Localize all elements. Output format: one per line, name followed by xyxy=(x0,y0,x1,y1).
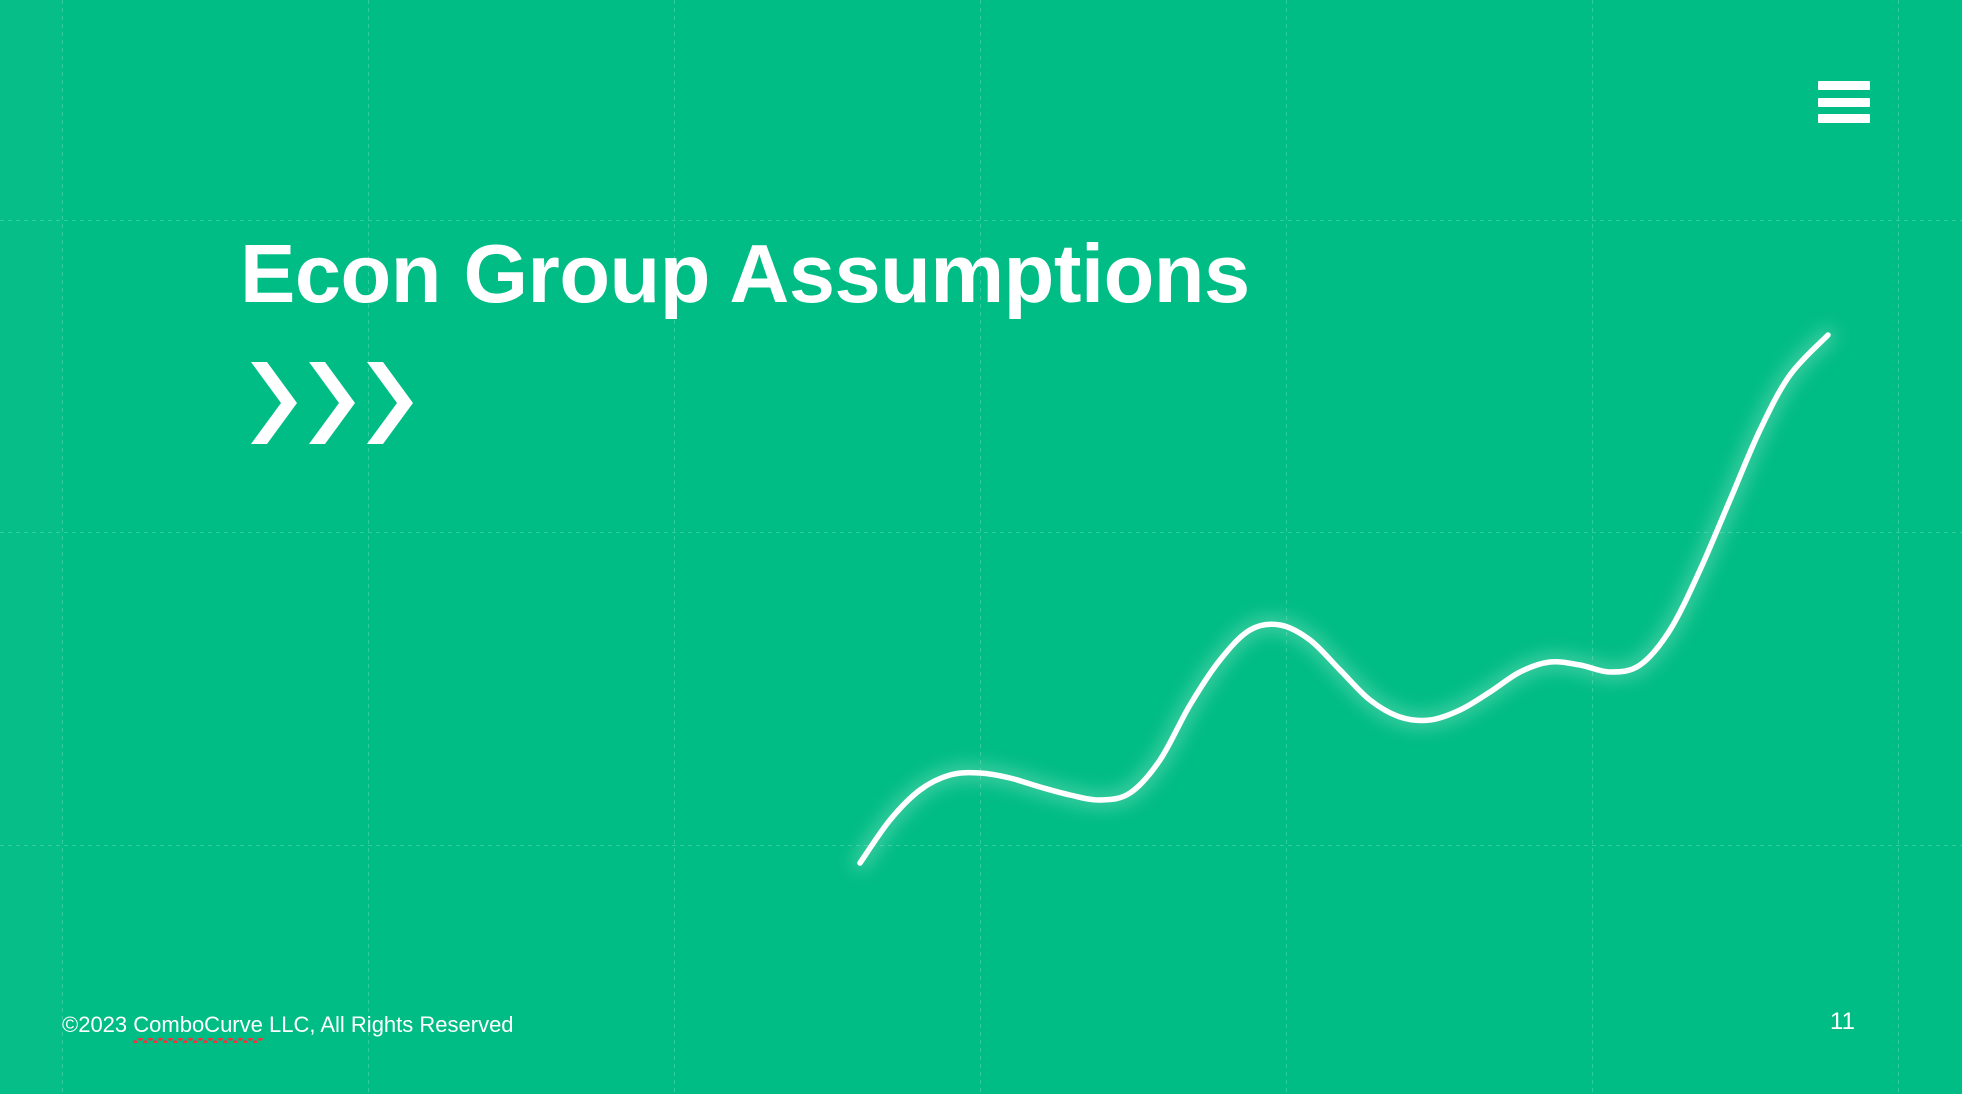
grid-line-horizontal xyxy=(0,532,1962,533)
grid-line-vertical xyxy=(674,0,675,1094)
grid-line-vertical xyxy=(980,0,981,1094)
copyright-prefix: ©2023 xyxy=(62,1012,133,1037)
copyright-suffix: LLC, All Rights Reserved xyxy=(263,1012,514,1037)
chevron-right-icon xyxy=(305,362,359,444)
curve-stroke xyxy=(860,335,1828,863)
growth-curve-chart xyxy=(0,0,1962,1094)
company-name-misspelled: ComboCurve xyxy=(133,1012,263,1038)
grid-line-vertical xyxy=(62,0,63,1094)
grid-line-horizontal xyxy=(0,220,1962,221)
grid-left-band xyxy=(0,0,62,1094)
hamburger-bar-bottom xyxy=(1818,114,1870,123)
chevron-right-icon xyxy=(247,362,301,444)
grid-line-vertical xyxy=(368,0,369,1094)
curve-glow xyxy=(860,335,1828,863)
hamburger-bar-middle xyxy=(1818,98,1870,107)
hamburger-menu-icon[interactable] xyxy=(1818,81,1870,123)
page-title: Econ Group Assumptions xyxy=(240,230,1250,317)
hamburger-bar-top xyxy=(1818,81,1870,90)
background-grid xyxy=(0,0,1962,1094)
grid-line-horizontal xyxy=(0,845,1962,846)
page-number: 11 xyxy=(1830,1008,1855,1036)
grid-line-vertical xyxy=(1898,0,1899,1094)
slide-canvas: Econ Group Assumptions ©2023 ComboCurve … xyxy=(0,0,1962,1094)
chevron-group xyxy=(247,362,417,444)
curve-svg xyxy=(0,0,1962,1094)
chevron-right-icon xyxy=(363,362,417,444)
grid-line-vertical xyxy=(1592,0,1593,1094)
grid-line-vertical xyxy=(1286,0,1287,1094)
footer-copyright: ©2023 ComboCurve LLC, All Rights Reserve… xyxy=(62,1012,514,1038)
